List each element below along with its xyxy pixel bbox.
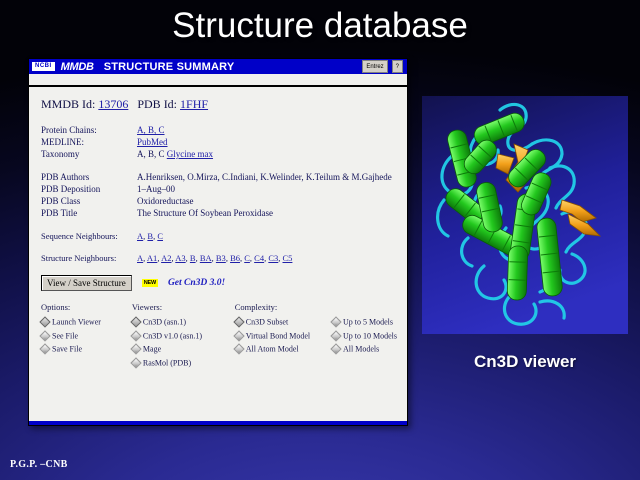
neighbour-link[interactable]: A <box>137 231 143 241</box>
neighbour-link[interactable]: A <box>137 253 143 263</box>
help-button[interactable]: ? <box>392 60 403 73</box>
radio-complexity-icon[interactable] <box>233 344 244 355</box>
mmdb-browser-window: NCBI MMDB STRUCTURE SUMMARY Entrez ? MMD… <box>28 58 408 426</box>
pubmed-link[interactable]: PubMed <box>137 137 168 147</box>
taxonomy-label: Taxonomy <box>41 149 137 161</box>
window-title: STRUCTURE SUMMARY <box>104 61 235 73</box>
option-cell[interactable]: All Models <box>332 344 397 358</box>
neighbour-link[interactable]: B <box>147 231 153 241</box>
table-row: See FileCn3D v1.0 (asn.1)Virtual Bond Mo… <box>41 331 397 345</box>
table-row: Launch ViewerCn3D (asn.1)Cn3D SubsetUp t… <box>41 317 397 331</box>
option-cell <box>332 358 397 372</box>
mmdb-brand: MMDB <box>61 61 94 73</box>
sequence-neighbours-row: Sequence Neighbours:A, B, C <box>41 230 397 242</box>
neighbour-link[interactable]: B <box>190 253 196 263</box>
viewer-options-table: Options: Viewers: Complexity: Launch Vie… <box>41 302 397 372</box>
radio-viewers-label[interactable]: Cn3D v1.0 (asn.1) <box>143 331 202 340</box>
protein-chains-links[interactable]: A, B, C <box>137 125 165 135</box>
get-cn3d-link[interactable]: Get Cn3D 3.0! <box>168 278 225 288</box>
chain-info-table: Protein Chains: A, B, C MEDLINE: PubMed … <box>41 125 392 220</box>
pdb-id-label: PDB Id: <box>137 97 177 111</box>
neighbour-link[interactable]: B3 <box>216 253 226 263</box>
radio-models-label[interactable]: Up to 5 Models <box>343 318 393 327</box>
ncbi-logo[interactable]: NCBI <box>32 62 55 71</box>
neighbour-link[interactable]: A2 <box>161 253 171 263</box>
radio-models-icon[interactable] <box>330 316 341 327</box>
radio-viewers-label[interactable]: Mage <box>143 345 161 354</box>
radio-viewers-icon[interactable] <box>130 330 141 341</box>
option-cell[interactable]: Save File <box>41 344 132 358</box>
molecule-render[interactable] <box>422 96 628 334</box>
page-title: Structure database <box>0 6 640 46</box>
structure-neighbours-links: A, A1, A2, A3, B, BA, B3, B6, C, C4, C3,… <box>137 253 292 263</box>
options-header: Options: <box>41 302 132 317</box>
pdb-class-value: Oxidoreductase <box>137 196 392 208</box>
taxonomy-chains: A, B, C <box>137 149 165 159</box>
titlebar-buttons: Entrez ? <box>362 60 403 73</box>
new-badge: NEW <box>142 279 158 287</box>
pdb-class-label: PDB Class <box>41 196 137 208</box>
option-cell[interactable]: Cn3D (asn.1) <box>132 317 235 331</box>
pdb-deposition-label: PDB Deposition <box>41 184 137 196</box>
option-cell[interactable]: Cn3D v1.0 (asn.1) <box>132 331 235 345</box>
table-row: Taxonomy A, B, C Glycine max <box>41 149 392 161</box>
pdb-id-link[interactable]: 1FHF <box>180 97 208 111</box>
id-line: MMDB Id: 13706 PDB Id: 1FHF <box>41 97 397 112</box>
protein-chains-label: Protein Chains: <box>41 125 137 137</box>
slide: Structure database NCBI MMDB STRUCTURE S… <box>0 0 640 480</box>
pdb-authors-label: PDB Authors <box>41 172 137 184</box>
radio-complexity-label[interactable]: Virtual Bond Model <box>246 331 310 340</box>
radio-options-label[interactable]: Launch Viewer <box>52 318 101 327</box>
option-cell[interactable]: RasMol (PDB) <box>132 358 235 372</box>
radio-options-label[interactable]: Save File <box>52 345 82 354</box>
pdb-title-label: PDB Title <box>41 208 137 220</box>
radio-models-label[interactable]: All Models <box>343 345 379 354</box>
models-header <box>332 302 397 317</box>
option-cell <box>235 358 332 372</box>
neighbour-link[interactable]: C <box>157 231 163 241</box>
radio-viewers-label[interactable]: RasMol (PDB) <box>143 359 191 368</box>
sequence-neighbours-links: A, B, C <box>137 231 163 241</box>
option-cell[interactable]: Virtual Bond Model <box>235 331 332 345</box>
neighbour-link[interactable]: A3 <box>175 253 185 263</box>
table-row: PDB Class Oxidoreductase <box>41 196 392 208</box>
option-cell[interactable]: All Atom Model <box>235 344 332 358</box>
table-row: PDB Title The Structure Of Soybean Perox… <box>41 208 392 220</box>
mmdb-id-label: MMDB Id: <box>41 97 95 111</box>
structure-neighbours-label: Structure Neighbours: <box>41 252 137 264</box>
radio-viewers-label[interactable]: Cn3D (asn.1) <box>143 318 186 327</box>
radio-options-label[interactable]: See File <box>52 331 78 340</box>
spacer <box>41 161 392 172</box>
taxonomy-species-link[interactable]: Glycine max <box>167 149 213 159</box>
viewers-header: Viewers: <box>132 302 235 317</box>
table-row: Protein Chains: A, B, C <box>41 125 392 137</box>
window-titlebar: NCBI MMDB STRUCTURE SUMMARY Entrez ? <box>29 59 407 74</box>
window-bottom-bar <box>29 421 407 425</box>
radio-options-icon[interactable] <box>39 344 50 355</box>
slide-footer: P.G.P. –CNB <box>10 459 68 470</box>
radio-options-icon[interactable] <box>39 316 50 327</box>
sequence-neighbours-label: Sequence Neighbours: <box>41 230 137 242</box>
option-cell[interactable]: Launch Viewer <box>41 317 132 331</box>
neighbour-link[interactable]: BA <box>200 253 212 263</box>
neighbour-link[interactable]: B6 <box>230 253 240 263</box>
option-cell[interactable]: Mage <box>132 344 235 358</box>
medline-label: MEDLINE: <box>41 137 137 149</box>
complexity-header: Complexity: <box>235 302 332 317</box>
table-row: Save FileMageAll Atom ModelAll Models <box>41 344 397 358</box>
table-header-row: Options: Viewers: Complexity: <box>41 302 397 317</box>
option-cell[interactable]: Cn3D Subset <box>235 317 332 331</box>
option-cell <box>41 358 132 372</box>
entrez-button[interactable]: Entrez <box>362 60 387 73</box>
radio-models-icon[interactable] <box>330 330 341 341</box>
pdb-authors-value: A.Henriksen, O.Mirza, C.Indiani, K.Welin… <box>137 172 392 184</box>
structure-neighbours-row: Structure Neighbours:A, A1, A2, A3, B, B… <box>41 252 397 264</box>
pdb-title-value: The Structure Of Soybean Peroxidase <box>137 208 392 220</box>
radio-models-label[interactable]: Up to 10 Models <box>343 331 397 340</box>
radio-viewers-icon[interactable] <box>130 344 141 355</box>
mmdb-id-link[interactable]: 13706 <box>98 97 128 111</box>
radio-complexity-icon[interactable] <box>233 316 244 327</box>
neighbour-link[interactable]: C5 <box>283 253 293 263</box>
option-cell[interactable]: Up to 5 Models <box>332 317 397 331</box>
radio-complexity-label[interactable]: Cn3D Subset <box>246 318 288 327</box>
cn3d-viewer-label: Cn3D viewer <box>422 352 628 372</box>
table-row: PDB Deposition 1–Aug–00 <box>41 184 392 196</box>
radio-models-icon[interactable] <box>330 344 341 355</box>
radio-viewers-icon[interactable] <box>130 357 141 368</box>
viewer-options-body: Launch ViewerCn3D (asn.1)Cn3D SubsetUp t… <box>41 317 397 372</box>
titlebar-spacer <box>29 74 407 85</box>
radio-complexity-label[interactable]: All Atom Model <box>246 345 299 354</box>
summary-document: MMDB Id: 13706 PDB Id: 1FHF Protein Chai… <box>29 87 407 378</box>
view-save-structure-button[interactable]: View / Save Structure <box>41 275 132 291</box>
radio-viewers-icon[interactable] <box>130 316 141 327</box>
table-row: PDB Authors A.Henriksen, O.Mirza, C.Indi… <box>41 172 392 184</box>
radio-complexity-icon[interactable] <box>233 330 244 341</box>
table-row: RasMol (PDB) <box>41 358 397 372</box>
neighbour-link[interactable]: C3 <box>268 253 278 263</box>
table-row: MEDLINE: PubMed <box>41 137 392 149</box>
radio-options-icon[interactable] <box>39 330 50 341</box>
action-row: View / Save Structure NEW Get Cn3D 3.0! <box>41 275 397 291</box>
option-cell[interactable]: See File <box>41 331 132 345</box>
option-cell[interactable]: Up to 10 Models <box>332 331 397 345</box>
neighbour-link[interactable]: A1 <box>147 253 157 263</box>
neighbour-link[interactable]: C4 <box>254 253 264 263</box>
pdb-deposition-value: 1–Aug–00 <box>137 184 392 196</box>
neighbour-link[interactable]: C <box>244 253 250 263</box>
